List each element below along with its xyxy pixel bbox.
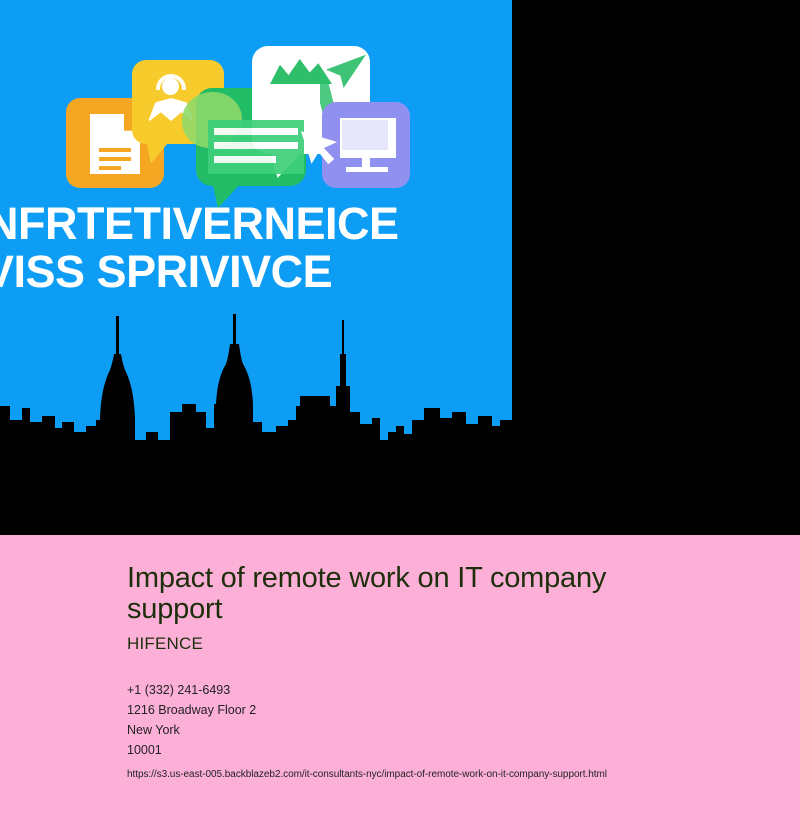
hero-caption: NFRTETIVERNEICE VISS SPRIVIVCE — [0, 200, 512, 296]
document-text-line — [99, 166, 121, 170]
info-panel: Impact of remote work on IT company supp… — [0, 535, 800, 840]
hero-caption-line-1: NFRTETIVERNEICE — [0, 200, 512, 248]
page-title: Impact of remote work on IT company supp… — [127, 563, 697, 625]
document-text-line — [99, 148, 131, 152]
paper-plane-icon — [326, 54, 366, 88]
contact-phone[interactable]: +1 (332) 241-6493 — [127, 680, 800, 700]
monitor-screen-shape — [340, 118, 396, 158]
city-skyline-silhouette — [0, 300, 512, 535]
hero-artwork: NFRTETIVERNEICE VISS SPRIVIVCE — [0, 0, 512, 535]
icon-cluster — [0, 34, 512, 194]
contact-city: New York — [127, 720, 800, 740]
contact-postal-code: 10001 — [127, 740, 800, 760]
monitor-base-shape — [346, 167, 388, 172]
document-text-line — [99, 157, 131, 161]
contact-street: 1216 Broadway Floor 2 — [127, 700, 800, 720]
source-url[interactable]: https://s3.us-east-005.backblazeb2.com/i… — [127, 768, 800, 782]
monitor-icon — [322, 102, 410, 188]
hero-caption-line-2: VISS SPRIVIVCE — [0, 248, 512, 296]
text-lines-slab — [208, 120, 304, 174]
slab-text-line — [214, 128, 298, 135]
hero-media-band: NFRTETIVERNEICE VISS SPRIVIVCE — [0, 0, 800, 535]
slab-text-line — [214, 142, 298, 149]
contact-block: +1 (332) 241-6493 1216 Broadway Floor 2 … — [127, 680, 800, 760]
agent-head-shape — [162, 78, 179, 95]
slab-text-line — [214, 156, 276, 163]
brand-name: HIFENCE — [127, 634, 800, 654]
